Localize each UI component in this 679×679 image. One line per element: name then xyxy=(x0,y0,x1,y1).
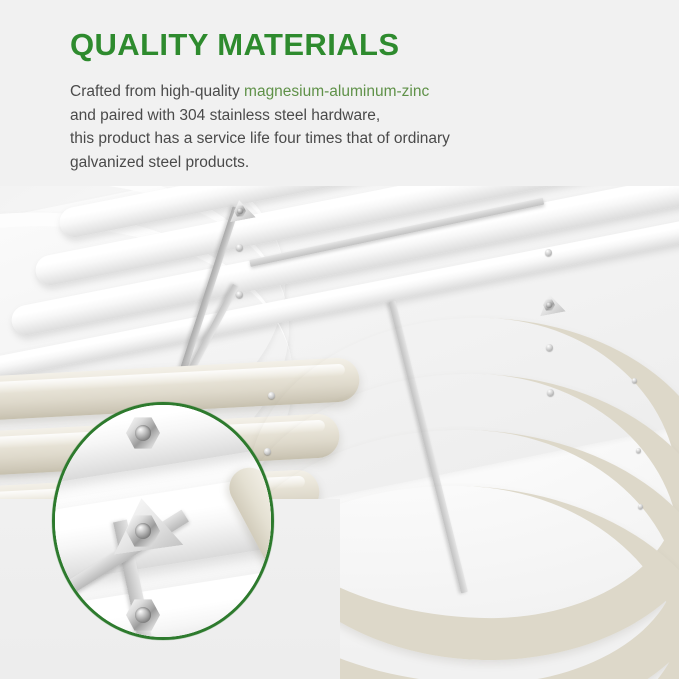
screw-cream-right-2 xyxy=(636,448,641,453)
magnifier-contents xyxy=(52,402,274,640)
screw-rail-3 xyxy=(236,291,243,298)
magnified-hex-bolt-bottom xyxy=(126,598,160,632)
screw-cream-seam-1 xyxy=(268,392,275,399)
material-highlight: magnesium-aluminum-zinc xyxy=(244,83,429,100)
hex-bolt-rail-1 xyxy=(234,205,246,217)
screw-right-1 xyxy=(545,249,552,256)
product-feature-panel: QUALITY MATERIALS Crafted from high-qual… xyxy=(0,0,679,679)
feature-text-block: QUALITY MATERIALS Crafted from high-qual… xyxy=(70,28,630,174)
description-line-2: and paired with 304 stainless steel hard… xyxy=(70,104,630,128)
description-line-1: Crafted from high-quality magnesium-alum… xyxy=(70,80,630,104)
magnified-hex-bolt-middle xyxy=(126,514,160,548)
hex-bolt-core xyxy=(237,208,242,213)
magnified-hex-bolt-top xyxy=(126,416,160,450)
hardware-detail-magnifier xyxy=(52,402,274,640)
description-line-3: this product has a service life four tim… xyxy=(70,127,630,151)
description-line-1-text: Crafted from high-quality xyxy=(70,83,244,100)
hex-bolt-right xyxy=(543,299,555,311)
feature-description: Crafted from high-quality magnesium-alum… xyxy=(70,80,630,174)
screw-cream-right-1 xyxy=(632,378,637,383)
screw-rail-2 xyxy=(236,244,243,251)
hex-bolt-core xyxy=(546,302,551,307)
screw-cream-right-3 xyxy=(638,504,643,509)
description-line-4: galvanized steel products. xyxy=(70,151,630,175)
page-title: QUALITY MATERIALS xyxy=(70,28,630,62)
